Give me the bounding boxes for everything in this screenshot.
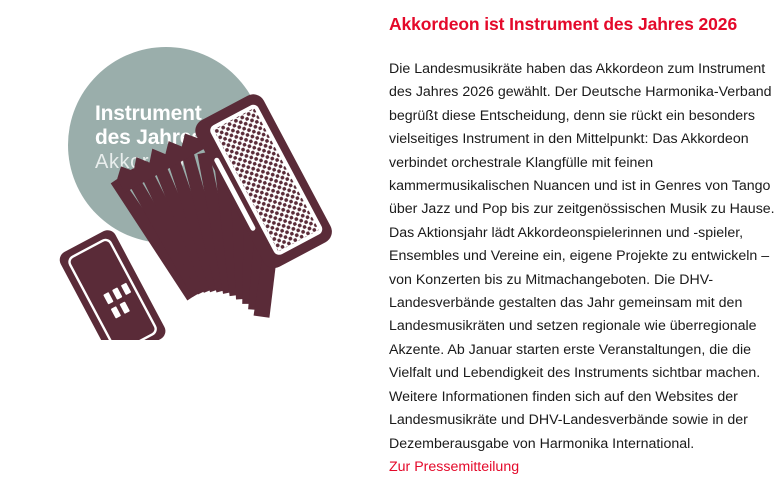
illustration-column: Instrument des Jahres 2026 Akkordeon: [0, 0, 380, 444]
article-column: Akkordeon ist Instrument des Jahres 2026…: [389, 0, 777, 444]
article-paragraph-1: Die Landesmusikräte haben das Akkordeon …: [389, 58, 777, 386]
article-paragraph-2: Weitere Informationen finden sich auf de…: [389, 386, 777, 456]
page-title: Akkordeon ist Instrument des Jahres 2026: [389, 13, 777, 35]
article-body: Die Landesmusikräte haben das Akkordeon …: [389, 58, 777, 479]
press-release-link[interactable]: Zur Pressemitteilung: [389, 456, 777, 479]
badge-line-1: Instrument: [95, 102, 202, 125]
accordion-badge-graphic: Instrument des Jahres 2026 Akkordeon: [0, 0, 380, 340]
press-release-page: Instrument des Jahres 2026 Akkordeon: [0, 0, 783, 444]
instrument-of-the-year-badge: Instrument des Jahres 2026 Akkordeon: [0, 0, 380, 340]
